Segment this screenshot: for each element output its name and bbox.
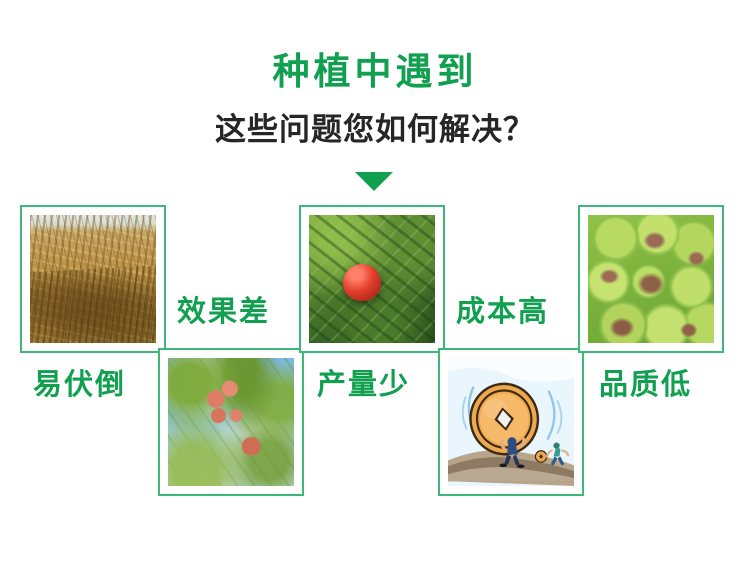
problem-label-5: 品质低 [599, 370, 692, 399]
problem-label-2: 效果差 [177, 297, 270, 326]
problem-image-frame-4 [438, 348, 584, 496]
poster-canvas: 种植中遇到 这些问题您如何解决？ 易伏倒 效果差 产量少 [0, 0, 750, 575]
problem-image-frame-1 [20, 205, 166, 353]
problem-label-1: 易伏倒 [33, 370, 126, 399]
lodged-wheat-field-photo [30, 215, 156, 343]
man-carrying-coin-cartoon [448, 358, 574, 486]
apple-on-tree-photo [309, 215, 435, 343]
problem-image-frame-3 [158, 348, 304, 496]
problem-image-frame-5 [578, 205, 724, 353]
apple-branch-sky-photo [168, 358, 294, 486]
page-subtitle: 这些问题您如何解决？ [0, 113, 750, 147]
problem-label-4: 成本高 [456, 297, 549, 326]
triangle-down-icon [355, 172, 393, 191]
page-title: 种植中遇到 [0, 52, 750, 93]
diseased-green-plums-photo [588, 215, 714, 343]
problem-label-3: 产量少 [317, 370, 410, 399]
problem-image-frame-2 [299, 205, 445, 353]
